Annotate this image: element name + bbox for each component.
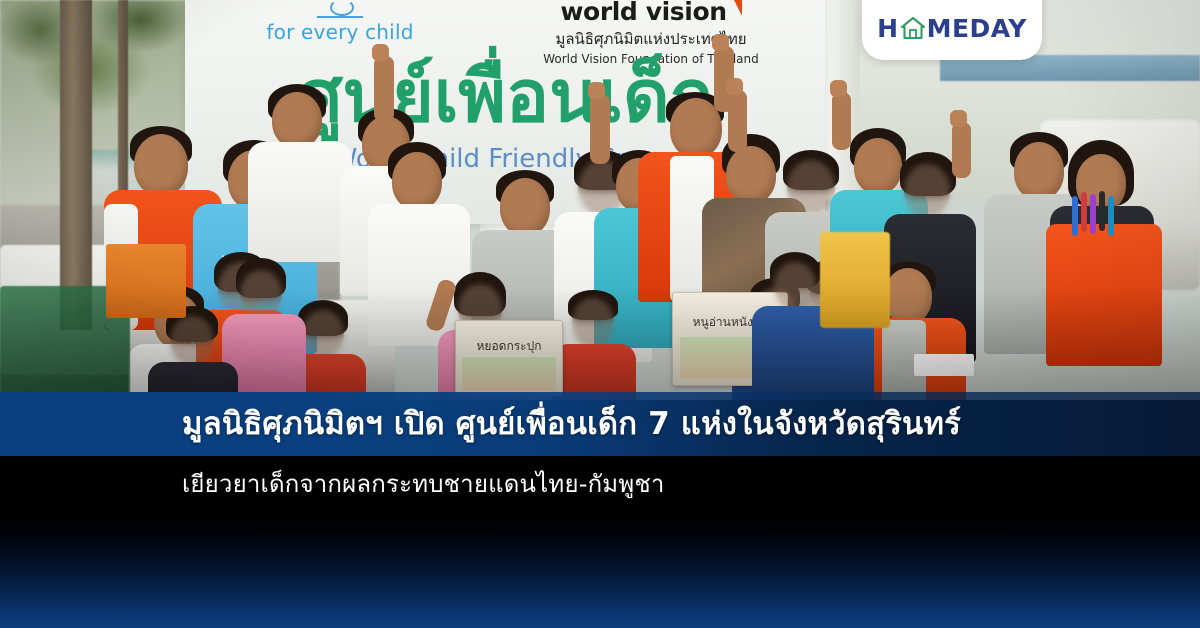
house-icon	[900, 16, 926, 40]
subtitle-text: เยียวยาเด็กจากผลกระทบชายแดนไทย-กัมพูชา	[182, 472, 665, 496]
vest-brand-patch	[914, 354, 974, 376]
homeday-wordmark: H MEDAY	[877, 14, 1027, 43]
headline-text: มูลนิธิศุภนิมิตฯ เปิด ศูนย์เพื่อนเด็ก 7 …	[182, 409, 961, 440]
hero-photo: for every child world vision มูลนิธิศุภน…	[0, 0, 1200, 400]
headline-band: มูลนิธิศุภนิมิตฯ เปิด ศูนย์เพื่อนเด็ก 7 …	[0, 392, 1200, 456]
storybook-one-art	[462, 357, 555, 391]
yellow-bag-prop	[820, 232, 890, 328]
crowd-group: unicef	[0, 0, 1200, 400]
logo-text-before: H	[877, 14, 898, 43]
news-card: for every child world vision มูลนิธิศุภน…	[0, 0, 1200, 628]
orange-document-prop	[106, 244, 186, 318]
logo-text-after: MEDAY	[927, 14, 1027, 43]
storybook-one: หยอดกระปุก	[455, 320, 563, 396]
footer-gradient	[0, 512, 1200, 628]
homeday-logo-badge[interactable]: H MEDAY	[862, 0, 1042, 60]
storybook-one-title: หยอดกระปุก	[456, 337, 562, 356]
subtitle-band: เยียวยาเด็กจากผลกระทบชายแดนไทย-กัมพูชา	[0, 456, 1200, 512]
